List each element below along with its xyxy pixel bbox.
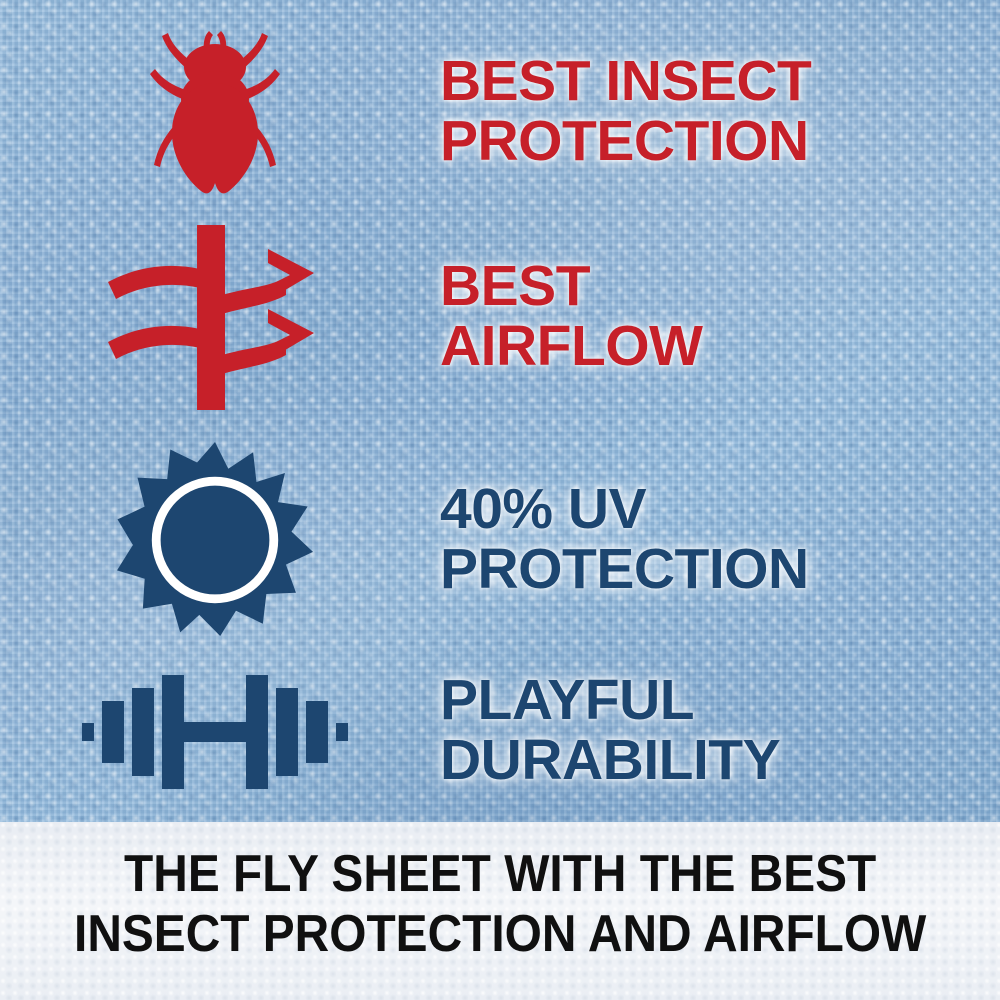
icon-cell-uv bbox=[0, 442, 430, 638]
headline-airflow: BEST AIRFLOW bbox=[440, 257, 1000, 377]
text-cell-uv: 40% UV PROTECTION bbox=[430, 480, 1000, 600]
bottom-caption-bar: THE FLY SHEET WITH THE BEST INSECT PROTE… bbox=[0, 822, 1000, 1000]
icon-cell-airflow bbox=[0, 225, 430, 410]
icon-cell-insect bbox=[0, 17, 430, 207]
headline-playful-durability: PLAYFUL DURABILITY bbox=[440, 671, 1000, 791]
airflow-icon bbox=[100, 225, 330, 410]
feature-row-insect-protection: BEST INSECT PROTECTION bbox=[0, 14, 1000, 210]
caption-headline: THE FLY SHEET WITH THE BEST INSECT PROTE… bbox=[74, 822, 926, 965]
feature-row-uv-protection: 40% UV PROTECTION bbox=[0, 436, 1000, 644]
text-cell-airflow: BEST AIRFLOW bbox=[430, 257, 1000, 377]
feature-row-airflow: BEST AIRFLOW bbox=[0, 218, 1000, 416]
text-cell-durability: PLAYFUL DURABILITY bbox=[430, 671, 1000, 791]
sun-uv-icon bbox=[117, 442, 313, 638]
product-feature-poster: BEST INSECT PROTECTION bbox=[0, 0, 1000, 1000]
headline-uv-protection: 40% UV PROTECTION bbox=[440, 480, 1000, 600]
icon-cell-durability bbox=[0, 661, 430, 801]
dumbbell-icon bbox=[80, 661, 350, 801]
feature-row-durability: PLAYFUL DURABILITY bbox=[0, 648, 1000, 813]
text-cell-insect: BEST INSECT PROTECTION bbox=[430, 52, 1000, 172]
headline-insect-protection: BEST INSECT PROTECTION bbox=[440, 52, 1000, 172]
fly-icon bbox=[130, 17, 300, 207]
